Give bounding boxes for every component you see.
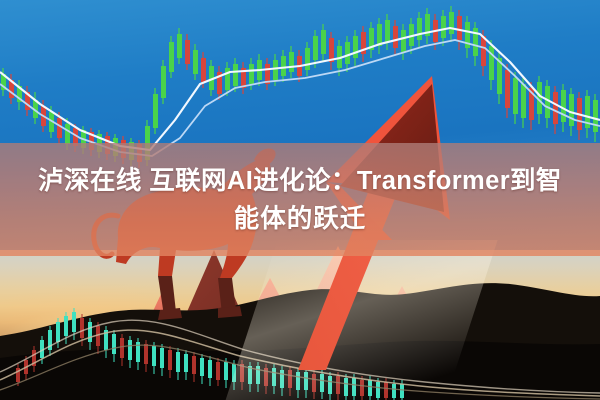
title-line-2: 能体的跃迁 [234,200,367,238]
title-line-1: 泸深在线 互联网AI进化论：Transformer到智 [38,162,562,200]
bull-legs [158,276,242,320]
article-banner: 泸深在线 互联网AI进化论：Transformer到智 能体的跃迁 [0,0,600,400]
banner-title: 泸深在线 互联网AI进化论：Transformer到智 能体的跃迁 [0,143,600,256]
